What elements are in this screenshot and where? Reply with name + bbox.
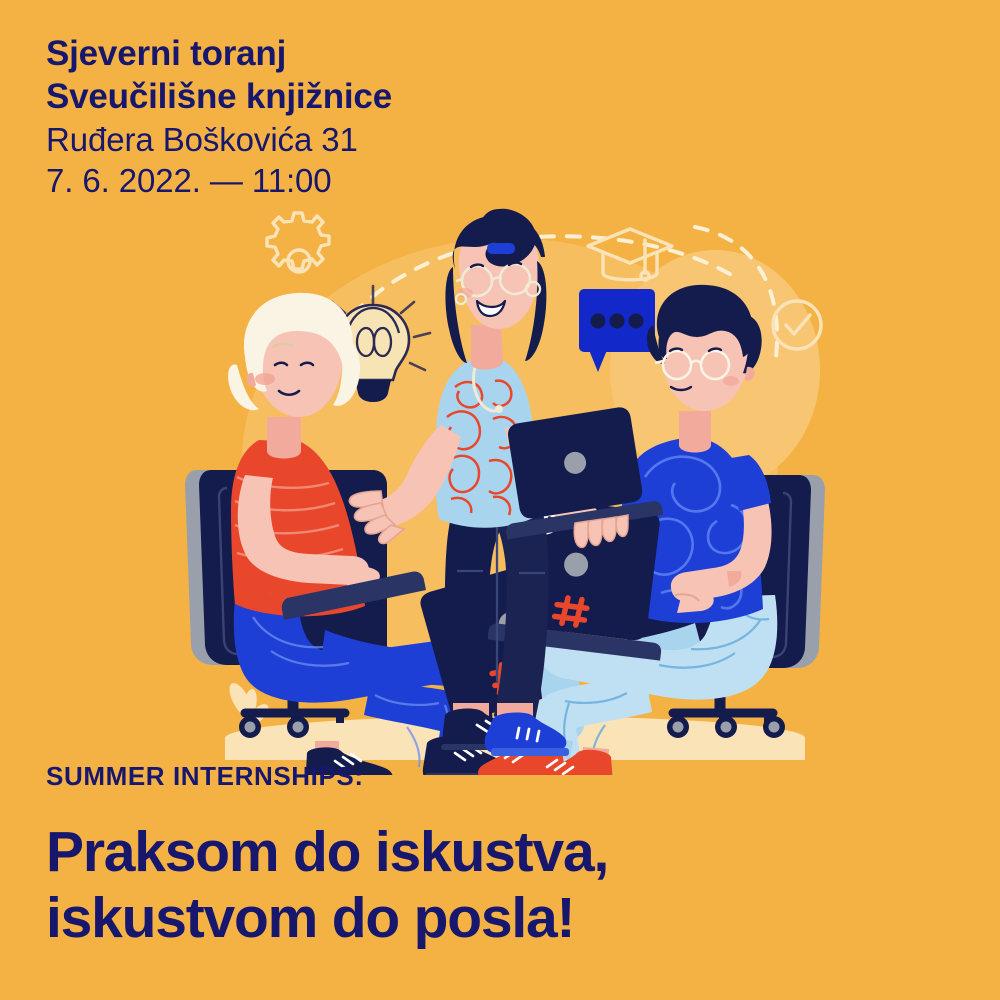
headline-block: SUMMER INTERNSHIPS: Praksom do iskustva,… xyxy=(46,762,946,952)
event-address: Ruđera Boškovića 31 xyxy=(46,119,686,161)
illustration xyxy=(175,205,835,775)
headline-line-2: iskustvom do posla! xyxy=(46,885,946,952)
poster-canvas: Sjeverni toranj Sveučilišne knjižnice Ru… xyxy=(0,0,1000,1000)
gear-icon xyxy=(267,213,329,272)
venue-line-2: Sveučilišne knjižnice xyxy=(46,75,686,118)
headline-line-1: Praksom do iskustva, xyxy=(46,819,946,886)
event-datetime: 7. 6. 2022. — 11:00 xyxy=(46,160,686,202)
kicker-label: SUMMER INTERNSHIPS: xyxy=(46,762,946,791)
illustration-svg xyxy=(175,205,835,775)
event-details: Sjeverni toranj Sveučilišne knjižnice Ru… xyxy=(46,32,686,202)
venue-line-1: Sjeverni toranj xyxy=(46,32,686,75)
